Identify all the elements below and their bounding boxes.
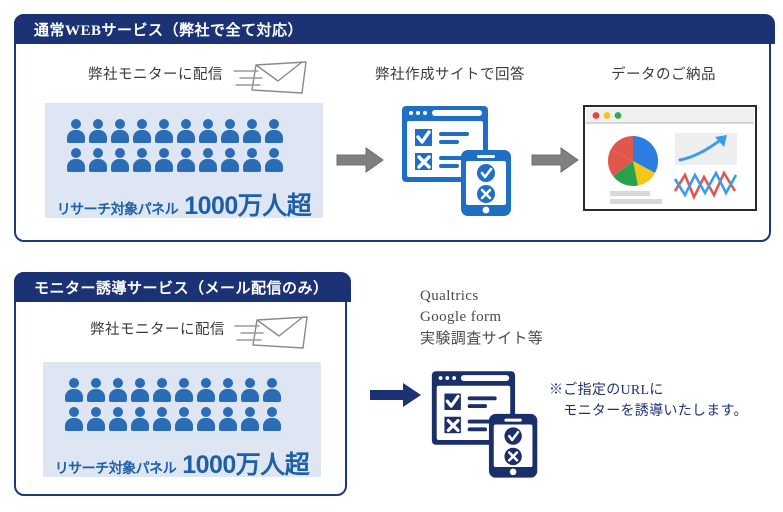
standard-panel-label-big: 1000万人超 [184,186,311,222]
envelope-icon [233,312,311,357]
redirect-panel-box: リサーチ対象パネル 1000万人超 [43,362,321,477]
person-icon [155,119,173,143]
person-icon [197,378,215,402]
standard-panel-label-small: リサーチ対象パネル [57,199,179,219]
person-icon [153,378,171,402]
person-icon [221,148,239,172]
person-icon [65,378,83,402]
person-icon [109,378,127,402]
standard-deliverable-label: データのご納品 [611,63,716,84]
person-icon [133,148,151,172]
person-icon [89,119,107,143]
envelope-icon [232,57,310,102]
redirect-panel-label-big: 1000万人超 [182,445,309,481]
survey-form-icon [398,104,520,222]
person-icon [131,407,149,431]
panel-redirect-header: モニター誘導サービス（メール配信のみ） [14,272,351,302]
person-icon [133,119,151,143]
survey-form-icon [428,362,546,491]
diagram-canvas: 通常WEBサービス（弊社で全て対応） 弊社モニターに配信 [0,0,783,512]
person-icon [175,407,193,431]
people-row [67,148,283,172]
person-icon [65,407,83,431]
person-icon [199,119,217,143]
people-row [67,119,283,143]
arrow-right-icon [336,147,384,178]
person-icon [155,148,173,172]
redirect-service-list: Qualtrics Google form 実験調査サイト等 [420,286,543,350]
person-icon [87,378,105,402]
person-icon [131,378,149,402]
panel-standard-header: 通常WEBサービス（弊社で全て対応） [14,14,775,44]
standard-delivery-label: 弊社モニターに配信 [88,63,223,84]
data-dashboard-icon [583,105,759,218]
person-icon [263,407,281,431]
person-icon [67,119,85,143]
person-icon [197,407,215,431]
person-icon [263,378,281,402]
person-icon [243,148,261,172]
person-icon [67,148,85,172]
person-icon [219,378,237,402]
person-icon [177,119,195,143]
standard-people-grid [67,119,283,172]
person-icon [111,148,129,172]
person-icon [199,148,217,172]
person-icon [221,119,239,143]
person-icon [89,148,107,172]
person-icon [87,407,105,431]
person-icon [177,148,195,172]
person-icon [243,119,261,143]
person-icon [265,148,283,172]
redirect-panel-label-small: リサーチ対象パネル [55,458,177,478]
arrow-right-icon [531,147,579,178]
person-icon [219,407,237,431]
person-icon [241,378,259,402]
person-icon [111,119,129,143]
person-icon [109,407,127,431]
person-icon [153,407,171,431]
arrow-right-icon [369,382,423,413]
person-icon [241,407,259,431]
person-icon [265,119,283,143]
redirect-people-grid [65,378,281,431]
standard-answer-label: 弊社作成サイトで回答 [375,63,525,84]
redirect-panel-label: リサーチ対象パネル 1000万人超 [43,445,321,481]
people-row [65,378,281,402]
people-row [65,407,281,431]
standard-panel-box: リサーチ対象パネル 1000万人超 [45,103,323,218]
person-icon [175,378,193,402]
standard-panel-label: リサーチ対象パネル 1000万人超 [45,186,323,222]
redirect-note: ※ご指定のURLに モニターを誘導いたします。 [549,380,748,422]
redirect-delivery-label: 弊社モニターに配信 [90,318,225,339]
